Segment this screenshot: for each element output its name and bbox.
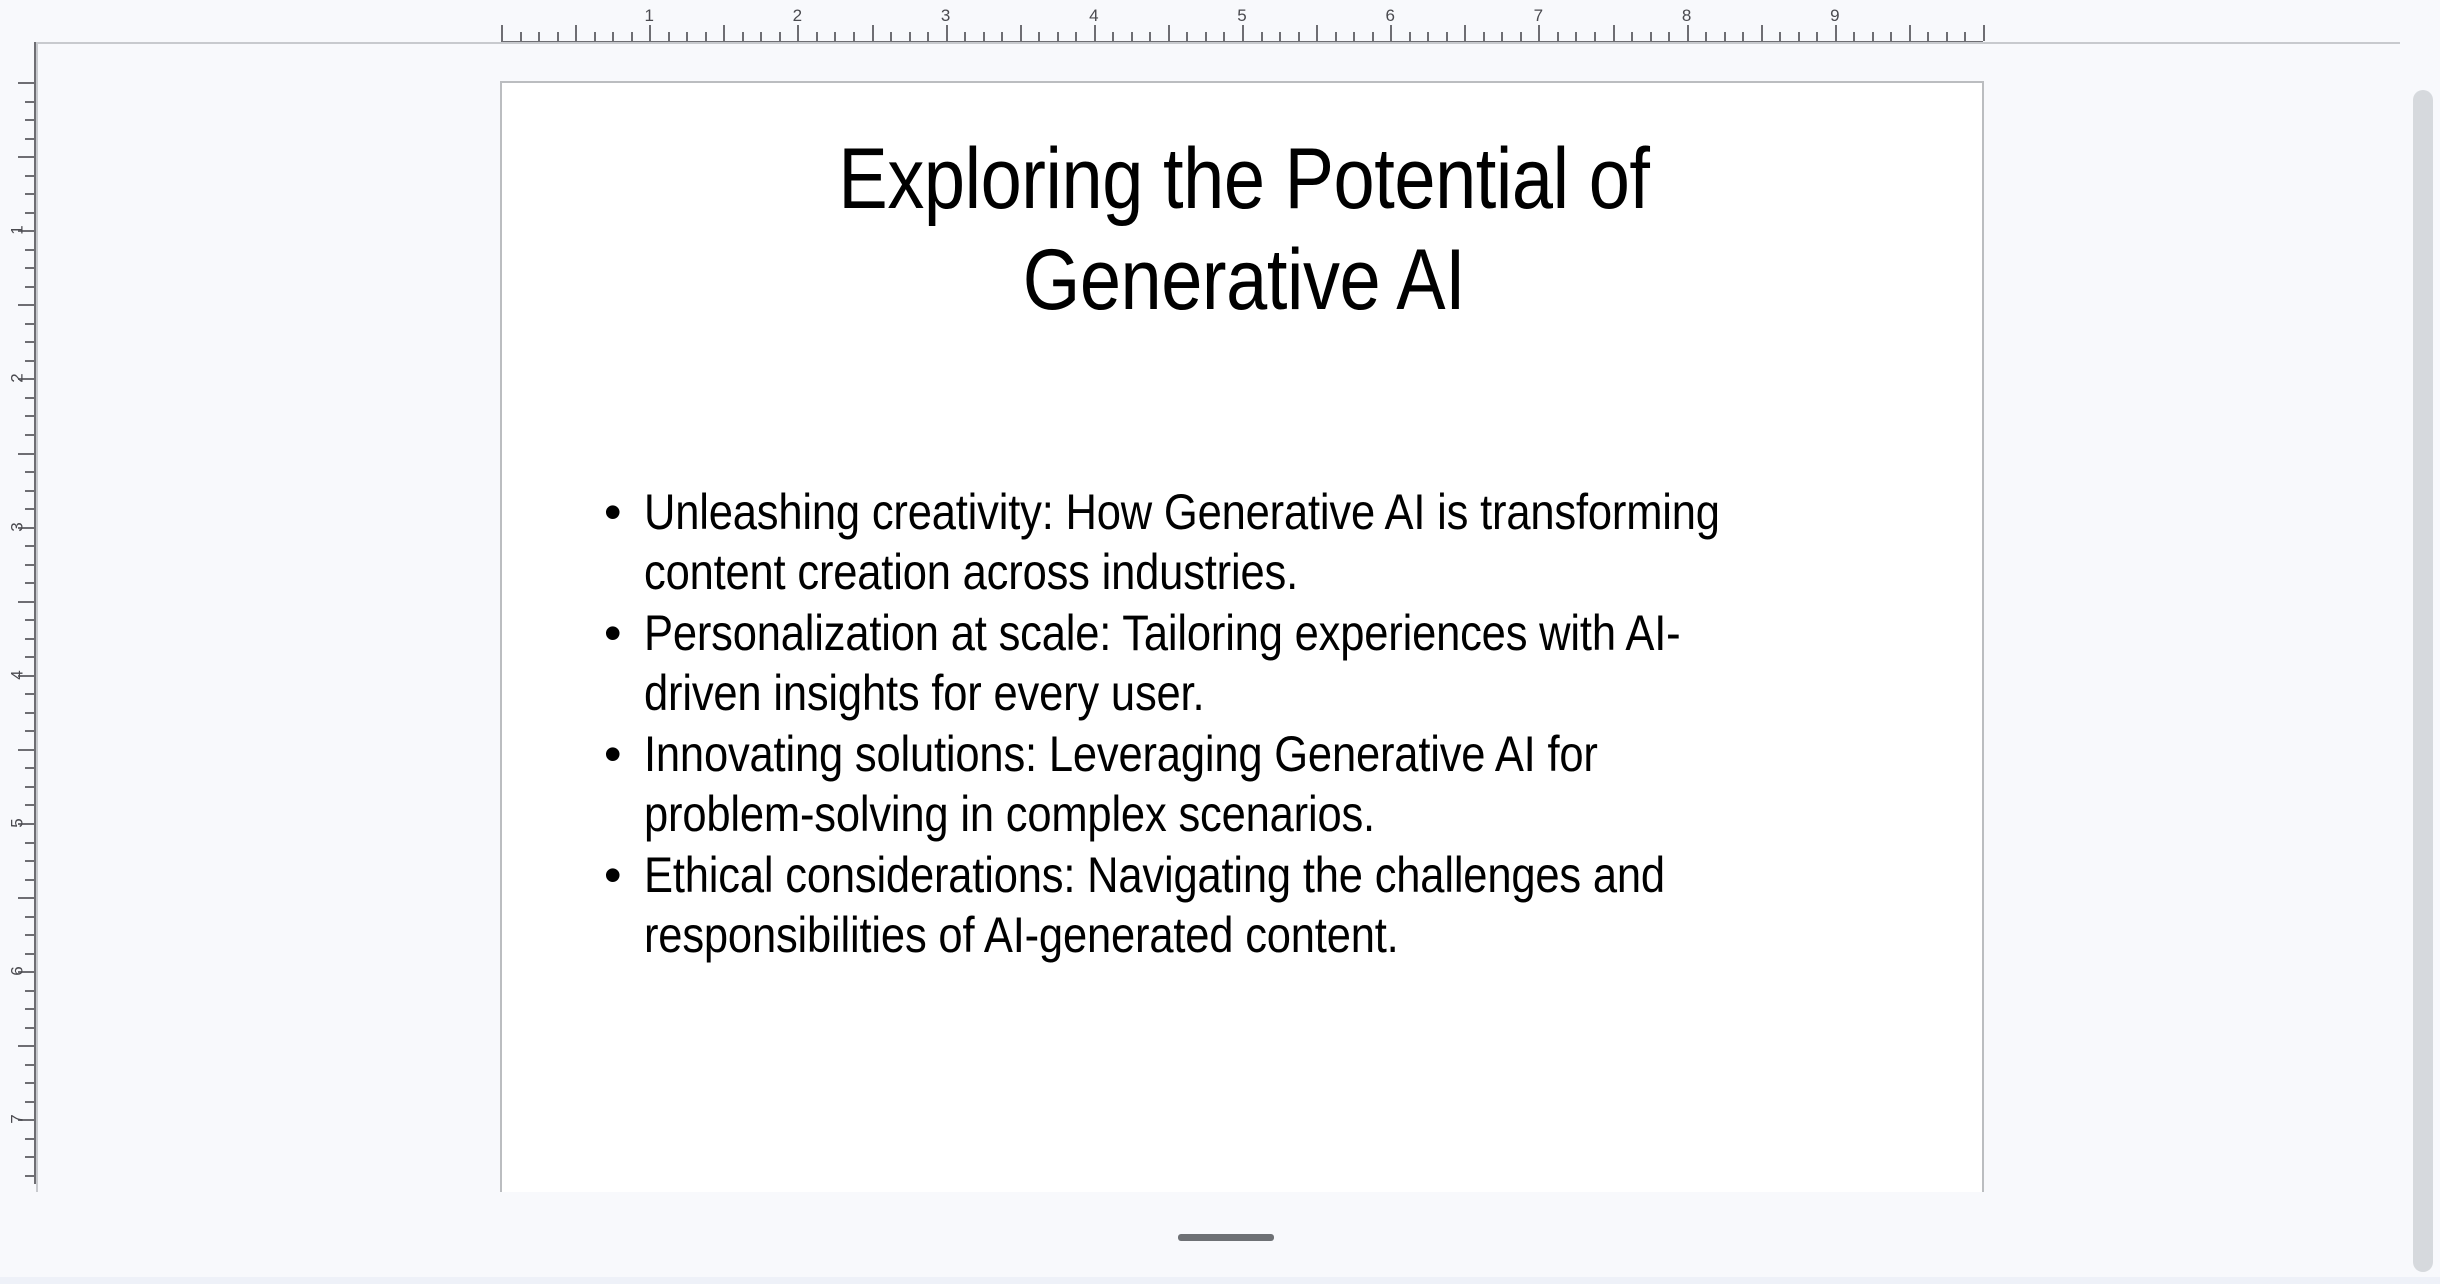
ruler-tick [742,32,744,41]
ruler-tick [853,32,855,41]
ruler-tick [1650,32,1652,41]
ruler-tick [18,82,34,84]
ruler-label: 2 [793,6,802,26]
ruler-tick [25,842,34,844]
ruler-tick [1575,32,1577,41]
slide-bullet-list[interactable]: •Unleashing creativity: How Generative A… [598,483,1918,967]
ruler-tick [1261,32,1263,41]
ruler-tick [25,619,34,621]
ruler-tick [1112,32,1114,41]
ruler-tick [1279,32,1281,41]
ruler-tick [594,32,596,41]
ruler-tick [816,32,818,41]
ruler-tick [1168,25,1170,41]
ruler-tick [1909,25,1911,41]
ruler-tick [25,138,34,140]
ruler-tick [779,32,781,41]
ruler-tick [1446,32,1448,41]
ruler-tick [1464,25,1466,41]
ruler-tick [25,730,34,732]
ruler-tick [25,341,34,343]
ruler-label: 7 [1534,6,1543,26]
ruler-tick [25,712,34,714]
ruler-tick [1557,32,1559,41]
ruler-tick [1242,25,1244,41]
ruler-tick [18,156,34,158]
ruler-tick [927,32,929,41]
ruler-tick [1613,25,1615,41]
ruler-tick [18,601,34,603]
bullet-item[interactable]: •Unleashing creativity: How Generative A… [598,483,1918,602]
ruler-tick [25,471,34,473]
ruler-tick [25,804,34,806]
ruler-tick [1594,32,1596,41]
ruler-tick [964,32,966,41]
ruler-tick [575,25,577,41]
ruler-tick [1705,32,1707,41]
ruler-tick [25,360,34,362]
ruler-tick [25,656,34,658]
ruler-tick [1038,32,1040,41]
ruler-tick [834,32,836,41]
ruler-label: 1 [7,225,27,234]
ruler-tick [25,249,34,251]
ruler-tick [668,32,670,41]
ruler-tick [25,1175,34,1177]
ruler-tick [1094,25,1096,41]
ruler-tick [25,1027,34,1029]
ruler-tick [25,860,34,862]
ruler-tick [25,564,34,566]
ruler-tick [25,545,34,547]
ruler-tick [1798,32,1800,41]
ruler-tick [25,508,34,510]
ruler-label: 4 [7,670,27,679]
slide-surface[interactable]: Exploring the Potential of Generative AI… [500,81,1984,1194]
ruler-tick [18,304,34,306]
ruler-tick [25,879,34,881]
bullet-item[interactable]: •Ethical considerations: Navigating the … [598,846,1918,965]
ruler-tick [25,1064,34,1066]
vertical-scrollbar-thumb[interactable] [2413,90,2433,1272]
ruler-tick [538,32,540,41]
bullet-item-text: Personalization at scale: Tailoring expe… [644,604,1752,723]
ruler-tick [1816,32,1818,41]
ruler-tick [946,25,948,41]
ruler-label: 1 [644,6,653,26]
vertical-ruler[interactable]: 1234567 [0,42,36,1184]
ruler-tick [25,1101,34,1103]
ruler-tick [25,119,34,121]
ruler-tick [25,1082,34,1084]
ruler-tick [25,212,34,214]
bullet-point-icon: • [598,846,644,906]
slide-title[interactable]: Exploring the Potential of Generative AI [680,129,1808,330]
bullet-point-icon: • [598,725,644,785]
ruler-tick [1001,32,1003,41]
ruler-tick [1075,32,1077,41]
ruler-tick [25,397,34,399]
bullet-point-icon: • [598,604,644,664]
ruler-tick [520,32,522,41]
ruler-tick [686,32,688,41]
ruler-tick [1890,32,1892,41]
ruler-tick [25,953,34,955]
ruler-label: 6 [7,966,27,975]
bullet-item[interactable]: •Personalization at scale: Tailoring exp… [598,604,1918,723]
ruler-tick [1538,25,1540,41]
ruler-label: 5 [1237,6,1246,26]
bottom-edge-strip [0,1277,2440,1284]
ruler-tick [1927,32,1929,41]
ruler-tick [25,101,34,103]
vertical-scrollbar-track[interactable] [2406,42,2440,1284]
ruler-tick [1983,25,1985,41]
ruler-tick [501,25,503,41]
horizontal-ruler[interactable]: 123456789 [0,0,2440,42]
ruler-label: 5 [7,818,27,827]
ruler-tick [983,32,985,41]
ruler-tick [909,32,911,41]
ruler-tick [18,749,34,751]
ruler-tick [723,25,725,41]
ruler-tick [25,175,34,177]
ruler-tick [1409,32,1411,41]
ruler-tick [797,25,799,41]
ruler-tick [1372,32,1374,41]
ruler-tick [1779,32,1781,41]
slide-editor-canvas: 123456789 1234567 Exploring the Potentia… [0,0,2440,1284]
ruler-tick [890,32,892,41]
ruler-tick [1335,32,1337,41]
ruler-tick [1761,25,1763,41]
ruler-tick [705,32,707,41]
ruler-label: 6 [1385,6,1394,26]
ruler-label: 8 [1682,6,1691,26]
ruler-tick [1390,25,1392,41]
ruler-tick [1742,32,1744,41]
ruler-tick [1631,32,1633,41]
ruler-tick [25,1156,34,1158]
ruler-tick [25,990,34,992]
ruler-tick [25,767,34,769]
ruler-tick [25,638,34,640]
ruler-tick [1668,32,1670,41]
ruler-label: 3 [7,522,27,531]
ruler-tick [872,25,874,41]
horizontal-scrollbar-thumb[interactable] [1178,1234,1274,1241]
ruler-tick [25,323,34,325]
ruler-tick [25,490,34,492]
ruler-tick [1131,32,1133,41]
ruler-label: 3 [941,6,950,26]
ruler-tick [557,32,559,41]
ruler-tick [25,916,34,918]
bullet-item[interactable]: •Innovating solutions: Leveraging Genera… [598,725,1918,844]
ruler-tick [1316,25,1318,41]
ruler-tick [25,415,34,417]
ruler-tick [760,32,762,41]
ruler-tick [25,267,34,269]
ruler-tick [1520,32,1522,41]
ruler-tick [25,1138,34,1140]
ruler-tick [1057,32,1059,41]
ruler-tick [1020,25,1022,41]
bullet-item-text: Innovating solutions: Leveraging Generat… [644,725,1752,844]
ruler-tick [1964,32,1966,41]
ruler-tick [1483,32,1485,41]
ruler-tick [25,286,34,288]
ruler-tick [1223,32,1225,41]
ruler-tick [25,786,34,788]
ruler-tick [1205,32,1207,41]
ruler-tick [1186,32,1188,41]
ruler-tick [1872,32,1874,41]
ruler-tick [1853,32,1855,41]
ruler-label: 7 [7,1115,27,1124]
ruler-tick [1946,32,1948,41]
ruler-tick [25,1008,34,1010]
ruler-tick [649,25,651,41]
ruler-tick [1687,25,1689,41]
ruler-tick [18,897,34,899]
ruler-tick [1835,25,1837,41]
bullet-item-text: Ethical considerations: Navigating the c… [644,846,1752,965]
ruler-tick [612,32,614,41]
ruler-tick [18,453,34,455]
bullet-point-icon: • [598,483,644,543]
ruler-tick [25,582,34,584]
ruler-label: 4 [1089,6,1098,26]
ruler-tick [1149,32,1151,41]
bullet-item-text: Unleashing creativity: How Generative AI… [644,483,1752,602]
ruler-label: 9 [1830,6,1839,26]
ruler-tick [1724,32,1726,41]
ruler-label: 2 [7,374,27,383]
ruler-tick [631,32,633,41]
ruler-tick [1501,32,1503,41]
ruler-tick [1298,32,1300,41]
ruler-tick [1427,32,1429,41]
ruler-tick [25,934,34,936]
ruler-tick [25,193,34,195]
ruler-tick [25,434,34,436]
ruler-tick [25,693,34,695]
ruler-tick [18,1045,34,1047]
ruler-tick [1353,32,1355,41]
